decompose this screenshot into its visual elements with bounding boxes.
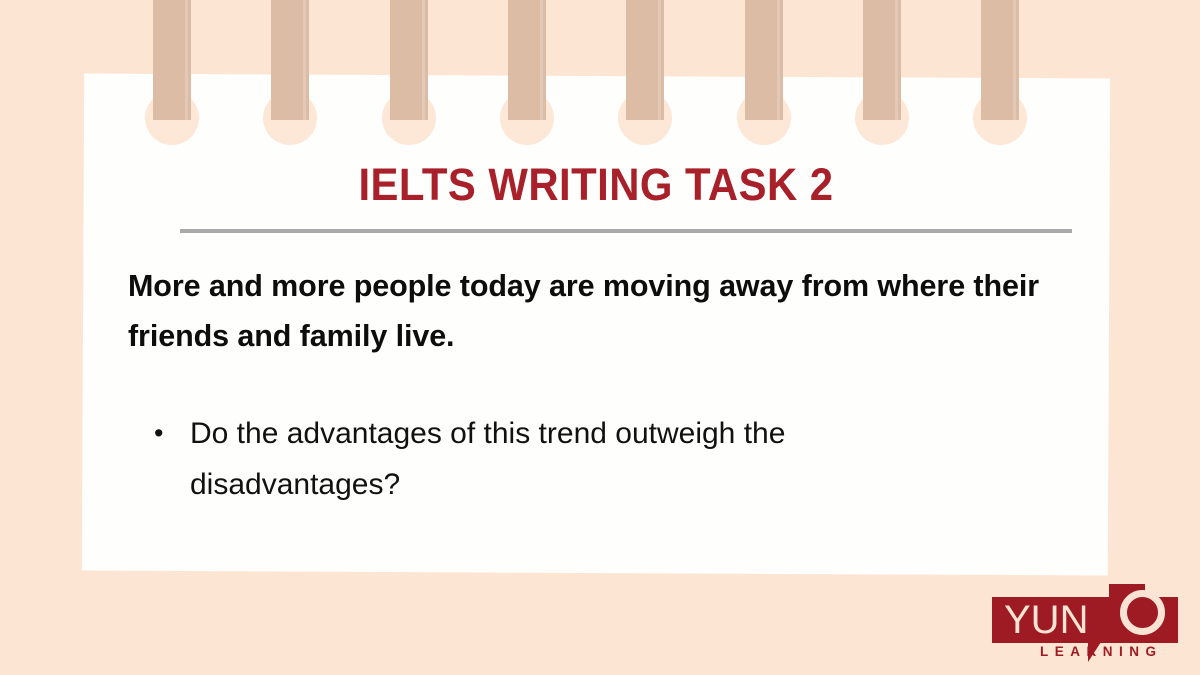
logo-o-ring-icon <box>1120 590 1165 635</box>
logo-tagline-text: LEARNING <box>1040 644 1163 659</box>
yuno-learning-logo: YUN LEARNING <box>992 584 1178 662</box>
task-prompt-statement: More and more people today are moving aw… <box>128 261 1063 361</box>
page-title: IELTS WRITING TASK 2 <box>119 159 1073 211</box>
question-line-1: Do the advantages of this trend outweigh… <box>190 417 785 450</box>
slide-content: IELTS WRITING TASK 2 More and more peopl… <box>83 76 1109 573</box>
question-line-2: disadvantages? <box>190 459 1063 510</box>
question-list: Do the advantages of this trend outweigh… <box>128 408 1063 510</box>
list-item: Do the advantages of this trend outweigh… <box>128 408 1063 510</box>
slide-canvas: IELTS WRITING TASK 2 More and more peopl… <box>0 0 1200 675</box>
title-divider <box>180 229 1072 233</box>
